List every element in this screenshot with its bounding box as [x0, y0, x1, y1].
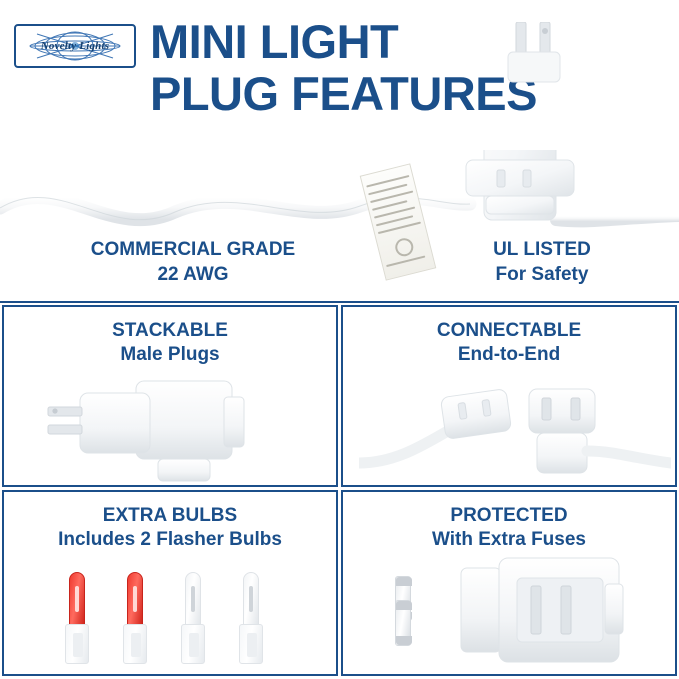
panel-stackable-title: STACKABLE Male Plugs — [4, 319, 336, 367]
logo-text: Novelty Lights — [41, 40, 109, 52]
callout-right-subtitle: For Safety — [452, 262, 632, 287]
page-title: MINI LIGHT PLUG FEATURES — [150, 16, 670, 120]
callout-commercial-grade: COMMERCIAL GRADE 22 AWG — [78, 237, 308, 287]
panel-protected-subheading: With Extra Fuses — [343, 528, 675, 552]
panel-protected-heading: PROTECTED — [450, 505, 567, 526]
panel-protected: PROTECTED With Extra Fuses — [341, 490, 677, 676]
callout-right-title: UL LISTED — [493, 239, 591, 260]
callout-ul-listed: UL LISTED For Safety — [452, 237, 632, 287]
end-to-end-connection-illustration — [359, 367, 671, 485]
panel-protected-title: PROTECTED With Extra Fuses — [343, 504, 675, 552]
clear-bulb-2 — [236, 572, 266, 668]
fuse-compartment-illustration — [455, 554, 655, 670]
header: Novelty Lights MINI LIGHT PLUG FEATURES — [0, 0, 679, 300]
bulb-row — [4, 572, 336, 672]
stacked-male-plugs-illustration — [28, 373, 318, 483]
title-line-2: PLUG FEATURES — [150, 68, 670, 120]
flasher-bulb-red-1 — [62, 572, 92, 668]
clear-bulb-1 — [178, 572, 208, 668]
panel-extra-bulbs-heading: EXTRA BULBS — [103, 505, 237, 526]
callout-left-subtitle: 22 AWG — [78, 262, 308, 287]
panel-stackable-subheading: Male Plugs — [4, 343, 336, 367]
feature-panel-grid: STACKABLE Male Plugs — [0, 303, 679, 679]
novelty-lights-logo: Novelty Lights — [14, 24, 136, 68]
panel-stackable-heading: STACKABLE — [112, 320, 228, 341]
flasher-bulb-red-2 — [120, 572, 150, 668]
spare-fuse-2 — [395, 600, 411, 646]
panel-connectable-title: CONNECTABLE End-to-End — [343, 319, 675, 367]
plug-prongs-icon — [506, 22, 566, 84]
infographic-page: Novelty Lights MINI LIGHT PLUG FEATURES — [0, 0, 679, 679]
title-line-1: MINI LIGHT — [150, 15, 398, 68]
panel-connectable-heading: CONNECTABLE — [437, 320, 581, 341]
panel-connectable: CONNECTABLE End-to-End — [341, 305, 677, 487]
panel-connectable-subheading: End-to-End — [343, 343, 675, 367]
callout-left-title: COMMERCIAL GRADE — [91, 239, 295, 260]
panel-stackable: STACKABLE Male Plugs — [2, 305, 338, 487]
panel-extra-bulbs-subheading: Includes 2 Flasher Bulbs — [4, 528, 336, 552]
panel-extra-bulbs-title: EXTRA BULBS Includes 2 Flasher Bulbs — [4, 504, 336, 552]
panel-extra-bulbs: EXTRA BULBS Includes 2 Flasher Bulbs — [2, 490, 338, 676]
